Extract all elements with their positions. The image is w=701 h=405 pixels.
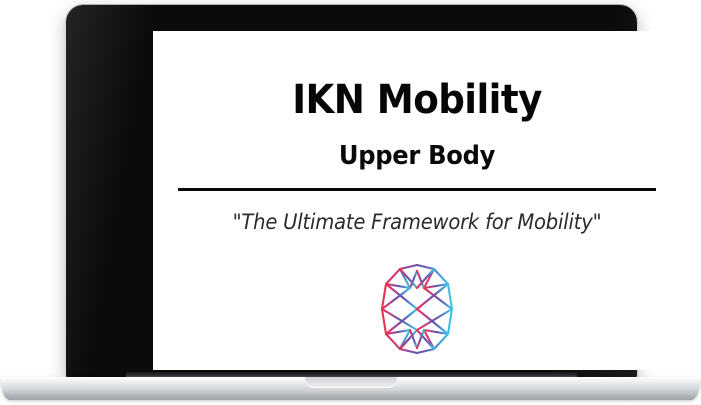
brain-polygon-logo-icon (380, 262, 454, 356)
laptop-base-notch (305, 377, 397, 388)
slide-tagline: "The Ultimate Framework for Mobility" (171, 212, 662, 233)
laptop-screen: IKN Mobility Upper Body "The Ultimate Fr… (153, 31, 681, 370)
laptop-lid-bezel: IKN Mobility Upper Body "The Ultimate Fr… (66, 5, 637, 379)
page-title: IKN Mobility (171, 80, 662, 120)
divider (178, 188, 656, 191)
slide-subtitle: Upper Body (171, 143, 662, 169)
presentation-slide: IKN Mobility Upper Body "The Ultimate Fr… (153, 31, 681, 370)
laptop-mockup: IKN Mobility Upper Body "The Ultimate Fr… (0, 0, 701, 405)
